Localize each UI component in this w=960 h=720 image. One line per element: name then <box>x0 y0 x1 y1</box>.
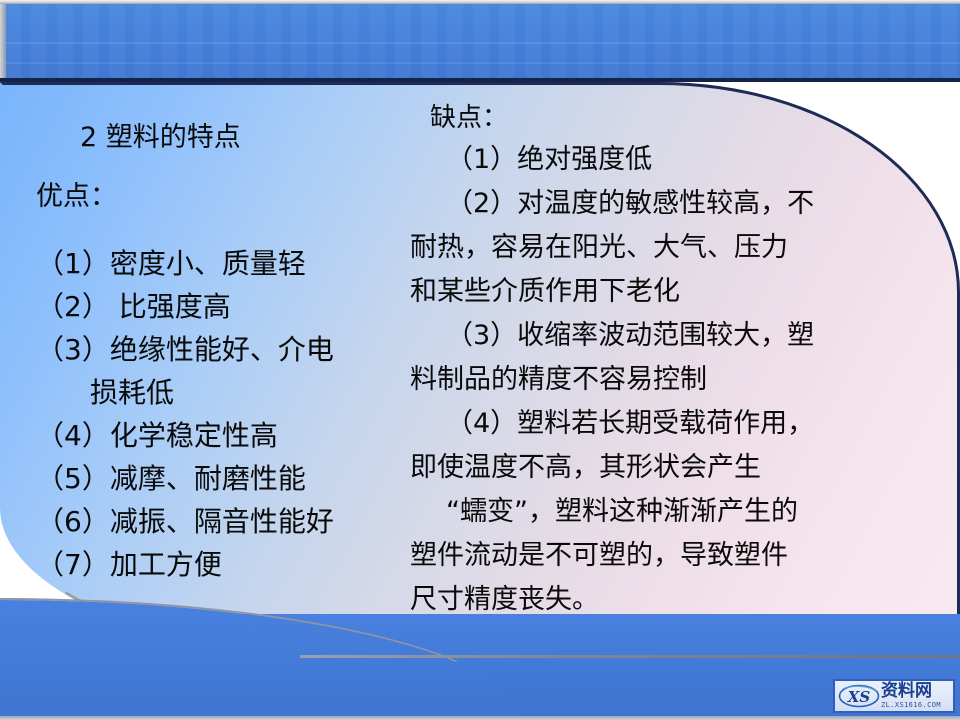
list-item: （6）减振、隔音性能好 <box>36 500 416 543</box>
xs-logo-icon: XS <box>838 683 880 709</box>
list-item-continuation: 尺寸精度丧失。 <box>410 578 910 622</box>
svg-text:XS: XS <box>847 688 871 706</box>
watermark-text-group: 资料网 ZL.XS1616.COM <box>881 683 941 709</box>
list-item-continuation: “蠕变”，塑料这种渐渐产生的 <box>410 490 910 534</box>
watermark-brand: 资料网 <box>881 683 941 700</box>
list-item: （1）绝对强度低 <box>410 138 910 182</box>
watermark-badge: XS 资料网 ZL.XS1616.COM <box>833 679 955 713</box>
advantages-label: 优点： <box>36 178 416 216</box>
section-title: 2 塑料的特点 <box>36 118 416 158</box>
list-item: （1）密度小、质量轻 <box>36 242 416 285</box>
list-item: （2）对温度的敏感性较高，不 <box>410 182 910 226</box>
slide-bottom-edge <box>0 716 960 720</box>
list-item-continuation: 塑件流动是不可塑的，导致塑件 <box>410 534 910 578</box>
disadvantages-label: 缺点： <box>410 100 910 136</box>
list-item-continuation: 耐热，容易在阳光、大气、压力 <box>410 226 910 270</box>
list-item: （4）塑料若长期受载荷作用， <box>410 402 910 446</box>
list-item-continuation: 即使温度不高，其形状会产生 <box>410 446 910 490</box>
list-item: （3）收缩率波动范围较大，塑 <box>410 314 910 358</box>
header-banner <box>5 4 960 79</box>
presentation-slide: 2 塑料的特点 优点： （1）密度小、质量轻 （2） 比强度高 （3）绝缘性能好… <box>0 0 960 720</box>
list-item: （3）绝缘性能好、介电 <box>36 328 416 371</box>
footer-divider-line <box>300 655 960 658</box>
list-item: （5）减摩、耐磨性能 <box>36 457 416 500</box>
list-item: （7）加工方便 <box>36 543 416 586</box>
list-item: （2） 比强度高 <box>36 285 416 328</box>
list-item-continuation: 损耗低 <box>36 371 416 414</box>
header-highlight-line-bottom <box>5 62 960 64</box>
right-column: 缺点： （1）绝对强度低 （2）对温度的敏感性较高，不 耐热，容易在阳光、大气、… <box>410 100 910 622</box>
list-item-continuation: 料制品的精度不容易控制 <box>410 358 910 402</box>
list-item: （4）化学稳定性高 <box>36 414 416 457</box>
left-column: 2 塑料的特点 优点： （1）密度小、质量轻 （2） 比强度高 （3）绝缘性能好… <box>36 118 416 586</box>
list-item-continuation: 和某些介质作用下老化 <box>410 270 910 314</box>
header-highlight-line-top <box>5 42 960 44</box>
header-left-edge <box>0 4 6 82</box>
watermark-url: ZL.XS1616.COM <box>881 702 941 709</box>
